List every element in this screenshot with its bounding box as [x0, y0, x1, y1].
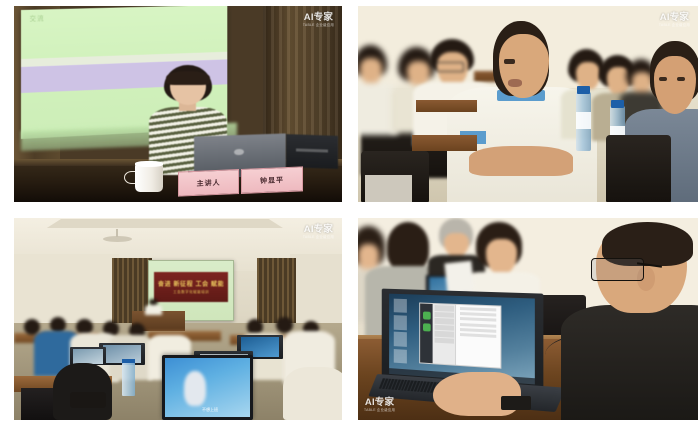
slide-banner: 奋进 新征程 工会 赋能 工会数字化赋能培训	[154, 272, 227, 302]
message-line	[461, 317, 497, 322]
water-bottle	[122, 363, 135, 395]
foreground-participant	[555, 222, 698, 420]
chat-icon[interactable]	[423, 311, 430, 319]
desktop-icons[interactable]	[394, 298, 408, 366]
list-item[interactable]	[435, 324, 454, 330]
screen-overlay-text: 交流	[29, 12, 44, 22]
chat-application-window[interactable]	[420, 302, 501, 368]
monitor-caption: 不想上班	[191, 407, 230, 413]
photo-panel-wide-room-shot: 奋进 新征程 工会 赋能 工会数字化赋能培训	[14, 218, 342, 420]
message-line	[461, 322, 497, 327]
photo-panel-participant-on-laptop: AI专家 TABLE 企业级应用	[358, 218, 698, 420]
laptop-screen	[390, 293, 536, 384]
audience-person-1	[358, 45, 392, 135]
nameplate-role: 主讲人	[178, 169, 239, 197]
desktop-icon[interactable]	[394, 315, 408, 330]
presenter-laptop	[194, 134, 286, 172]
desktop-icon[interactable]	[394, 298, 408, 313]
list-item[interactable]	[435, 318, 454, 324]
water-bottle-1-label	[576, 112, 591, 130]
attendee-foreground-right	[283, 367, 342, 420]
message-line	[461, 312, 497, 317]
nameplate-name: 钟显平	[241, 166, 302, 194]
tea-cup-lid	[135, 161, 163, 167]
photo-panel-audience-closeup: AI专家 TABLE 企业级应用	[358, 6, 698, 202]
speaker-nameplate: 主讲人 钟显平	[178, 166, 303, 197]
water-bottle-1-cap	[577, 86, 591, 94]
crossed-arms	[469, 146, 573, 176]
slide-title: 奋进 新征程 工会 赋能	[158, 279, 224, 288]
presenter-hair-fringe	[166, 71, 210, 84]
water-bottle-2-cap	[611, 100, 625, 108]
desk-front-left	[412, 135, 477, 151]
participant-shirt	[561, 305, 698, 420]
speaker-figure	[145, 299, 161, 315]
desktop-icon[interactable]	[394, 348, 408, 363]
monitor-screen: 不想上班	[165, 358, 249, 417]
list-item[interactable]	[435, 305, 454, 311]
eyeglasses-foreground-icon	[70, 392, 106, 408]
conversation-list[interactable]	[433, 304, 456, 365]
keyboard	[365, 175, 413, 202]
monitor-cartoon-character	[184, 371, 206, 405]
audience-person-foreground	[467, 16, 576, 202]
chair-front-right	[606, 135, 671, 202]
photo-collage: 交流 主讲人 钟显平	[0, 0, 698, 422]
message-pane[interactable]	[457, 305, 501, 368]
list-item[interactable]	[435, 311, 454, 317]
message-line	[461, 327, 497, 332]
slide-subtitle: 工会数字化赋能培训	[173, 290, 209, 295]
tea-cup	[135, 163, 163, 192]
second-laptop	[286, 134, 338, 169]
photo-panel-speaker-at-podium: 交流 主讲人 钟显平	[14, 6, 342, 202]
app-sidebar-rail[interactable]	[421, 303, 433, 363]
foreground-eye	[504, 59, 515, 65]
eyeglasses-icon	[436, 62, 464, 72]
smartwatch	[501, 396, 532, 410]
list-item[interactable]	[435, 331, 454, 337]
message-line	[461, 307, 497, 311]
message-line	[461, 333, 497, 338]
attendee-head-7	[276, 317, 292, 333]
ceiling-recess	[47, 219, 283, 228]
list-item[interactable]	[435, 337, 454, 343]
contacts-icon[interactable]	[423, 323, 430, 331]
desktop-icon[interactable]	[394, 332, 408, 347]
desk-mid-left	[416, 100, 477, 112]
foreground-monitor: 不想上班	[162, 355, 254, 420]
foreground-mouth	[508, 79, 522, 86]
